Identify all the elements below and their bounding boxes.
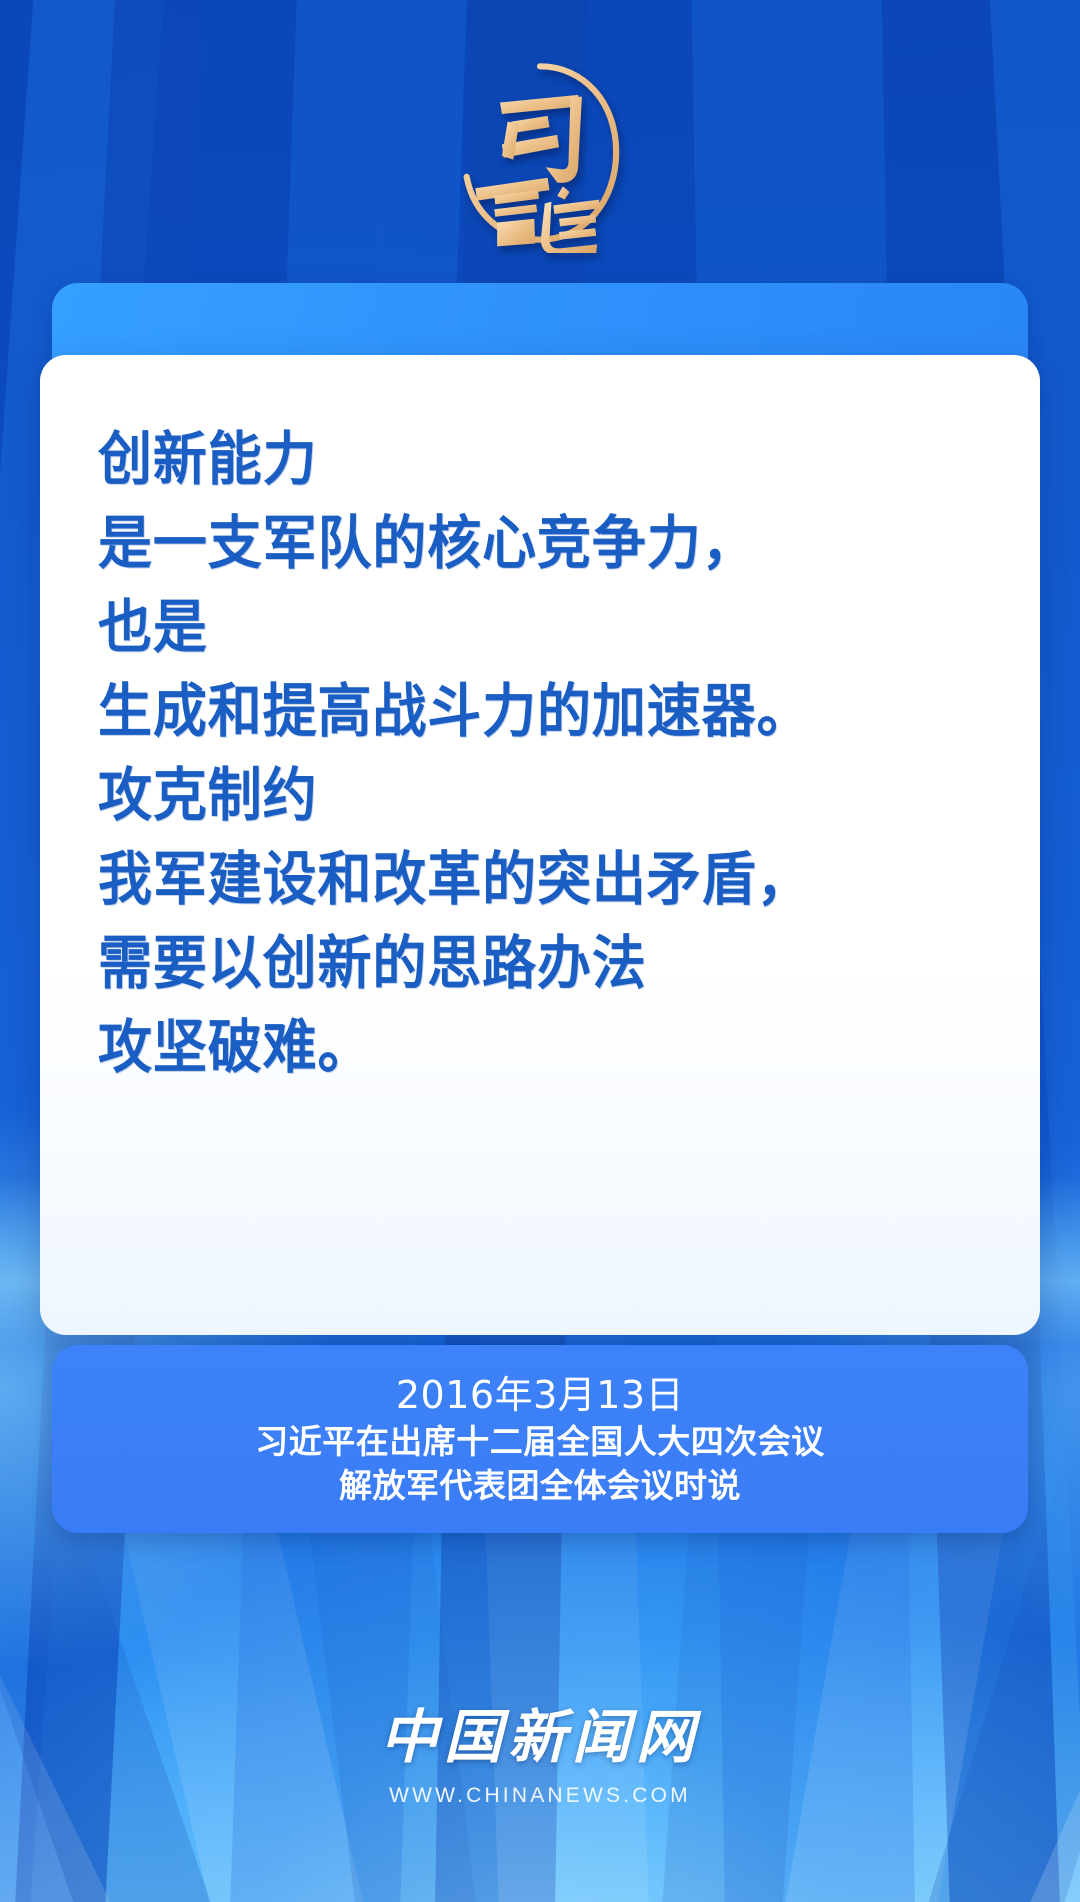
- quote-line: 生成和提高战斗力的加速器。: [98, 669, 937, 753]
- brand-seal: [0, 48, 1080, 258]
- site-url: WWW.CHINANEWS.COM: [389, 1784, 691, 1808]
- quote-line: 创新能力: [98, 417, 937, 501]
- quote-line: 需要以创新的思路办法: [98, 921, 937, 1005]
- quote-line: 攻克制约: [98, 753, 937, 837]
- quote-date: 2016年3月13日: [396, 1370, 684, 1420]
- quote-source-line: 解放军代表团全体会议时说: [339, 1464, 741, 1508]
- quote-line: 攻坚破难。: [98, 1005, 937, 1089]
- quote-card: 创新能力 是一支军队的核心竞争力， 也是 生成和提高战斗力的加速器。 攻克制约 …: [40, 355, 1040, 1335]
- quote-text-block: 创新能力 是一支军队的核心竞争力， 也是 生成和提高战斗力的加速器。 攻克制约 …: [98, 417, 1000, 1089]
- quote-source-line: 习近平在出席十二届全国人大四次会议: [255, 1420, 825, 1464]
- quote-line: 我军建设和改革的突出矛盾，: [98, 837, 937, 921]
- xi-yan-dao-seal-icon: [444, 53, 636, 253]
- quote-line: 也是: [98, 585, 937, 669]
- footer: 中国新闻网 WWW.CHINANEWS.COM: [0, 1690, 1080, 1808]
- quote-line: 是一支军队的核心竞争力，: [98, 501, 937, 585]
- site-logo-text: 中国新闻网: [380, 1690, 700, 1774]
- attribution-box: 2016年3月13日 习近平在出席十二届全国人大四次会议 解放军代表团全体会议时…: [52, 1345, 1028, 1533]
